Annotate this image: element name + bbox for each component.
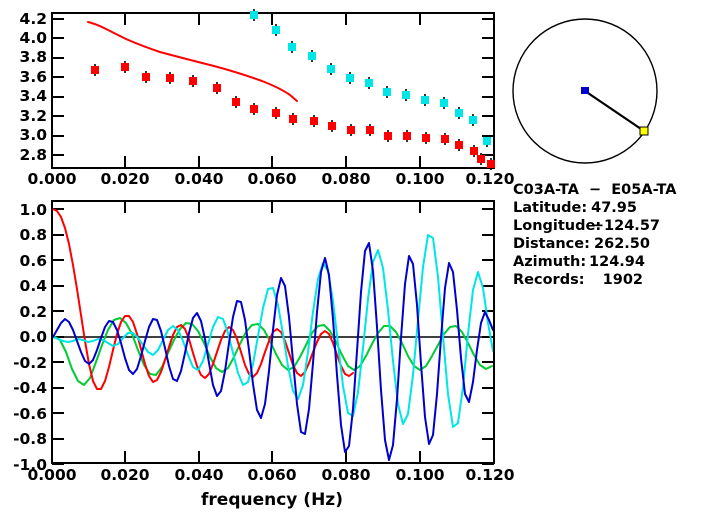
- ytick-label: 0.8: [20, 226, 47, 244]
- distance-value: 262.50: [594, 236, 650, 252]
- ytick-label: -0.2: [13, 354, 47, 372]
- ytick-label: 3.4: [20, 87, 48, 105]
- xtick-label: 0.080: [321, 466, 370, 484]
- xtick-label: 0.040: [174, 466, 223, 484]
- azimuth-ray-line: [585, 91, 644, 131]
- ytick-label: 4.0: [20, 29, 48, 47]
- xtick-label: 0.040: [174, 170, 223, 188]
- ytick-label: 3.0: [20, 126, 48, 144]
- records-value: 1902: [603, 272, 643, 288]
- cross-correlation-panel: 1.0 0.8 0.6 0.4 0.2 0.0 -0.2 -0.4 -0.6 -…: [13, 201, 515, 510]
- xcorr-xtick-labels: 0.000 0.020 0.040 0.060 0.080 0.100 0.12…: [27, 466, 514, 484]
- xtick-label: 0.060: [247, 170, 296, 188]
- dispersion-ytick-labels: 4.2 4.0 3.8 3.6 3.4 3.2 3.0 2.8: [20, 10, 48, 164]
- ytick-label: 0.6: [20, 252, 47, 270]
- xtick-label: 0.020: [100, 170, 149, 188]
- xtick-label: 0.000: [27, 170, 76, 188]
- info-panel: C03A-TA − E05A-TA Latitude: 47.95 Longit…: [513, 182, 677, 288]
- station-pair-title: C03A-TA − E05A-TA: [513, 182, 677, 198]
- red-measurement-points: [91, 61, 495, 170]
- ytick-label: 3.2: [20, 107, 47, 125]
- longitude-value: −124.57: [592, 218, 660, 234]
- ytick-label: -0.6: [13, 405, 47, 423]
- ytick-label: 0.4: [20, 277, 48, 295]
- ytick-label: 1.0: [20, 201, 48, 219]
- figure-root: 4.2 4.0 3.8 3.6 3.4 3.2 3.0 2.8: [0, 0, 702, 519]
- xcorr-ytick-labels: 1.0 0.8 0.6 0.4 0.2 0.0 -0.2 -0.4 -0.6 -…: [13, 201, 47, 474]
- ytick-label: 0.2: [20, 303, 47, 321]
- ytick-label: 3.8: [20, 48, 47, 66]
- stacked-spectrum-blue: [53, 243, 493, 460]
- ytick-label: 0.0: [20, 328, 48, 346]
- xtick-label: 0.020: [100, 466, 149, 484]
- latitude-value: 47.95: [591, 200, 637, 216]
- ytick-label: -0.4: [13, 379, 47, 397]
- dispersion-xtick-labels: 0.000 0.020 0.040 0.060 0.080 0.100 0.12…: [27, 170, 514, 188]
- xtick-label: 0.120: [465, 466, 514, 484]
- ytick-label: 2.8: [20, 146, 47, 164]
- ytick-label: 4.2: [20, 10, 47, 28]
- ytick-label: -0.8: [13, 430, 47, 448]
- remote-station-marker: [640, 127, 648, 135]
- xtick-label: 0.100: [395, 466, 444, 484]
- xtick-label: 0.120: [465, 170, 514, 188]
- distance-label: Distance:: [513, 236, 590, 252]
- phase-velocity-curve: [88, 22, 297, 101]
- longitude-label: Longitude:: [513, 218, 601, 234]
- ytick-label: 3.6: [20, 68, 47, 86]
- center-station-marker: [581, 87, 589, 94]
- azimuth-value: 124.94: [589, 254, 645, 270]
- azimuth-circle-inset: [513, 19, 657, 163]
- dispersion-x-ticks: [125, 13, 420, 168]
- figure-canvas: 4.2 4.0 3.8 3.6 3.4 3.2 3.0 2.8: [0, 0, 702, 519]
- latitude-label: Latitude:: [513, 200, 587, 216]
- dispersion-panel: 4.2 4.0 3.8 3.6 3.4 3.2 3.0 2.8: [20, 9, 515, 188]
- xtick-label: 0.100: [395, 170, 444, 188]
- xtick-label: 0.000: [27, 466, 76, 484]
- xtick-label: 0.060: [247, 466, 296, 484]
- records-label: Records:: [513, 272, 585, 288]
- xtick-label: 0.080: [321, 170, 370, 188]
- x-axis-label: frequency (Hz): [201, 490, 343, 510]
- azimuth-label: Azimuth:: [513, 254, 586, 270]
